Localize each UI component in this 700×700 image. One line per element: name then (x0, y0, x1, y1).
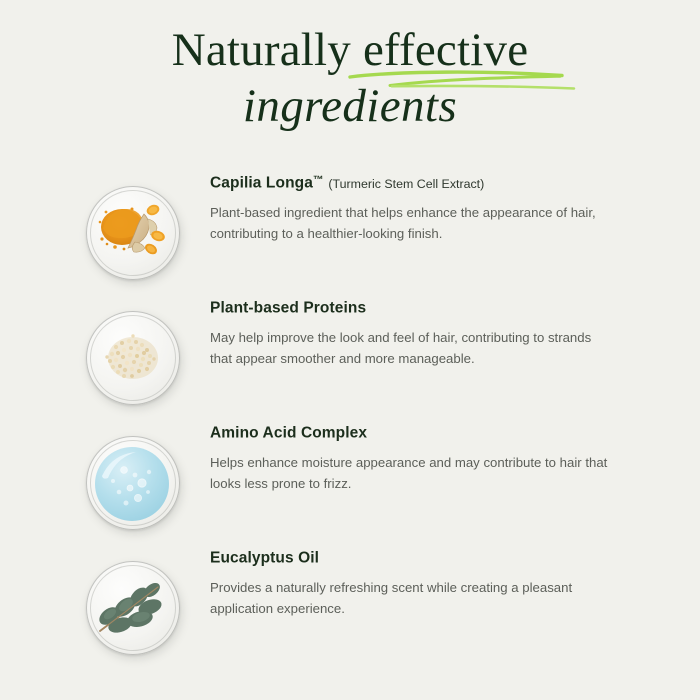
page-title-line-2: ingredients (0, 82, 700, 132)
list-item: Plant-based Proteins May help improve th… (0, 293, 700, 418)
petri-dish-eucalyptus-sprig-icon (86, 561, 180, 655)
ingredient-title-text: Plant-based Proteins (210, 300, 366, 317)
ingredient-description: Plant-based ingredient that helps enhanc… (210, 202, 610, 245)
ingredient-title: Capilia Longa™(Turmeric Stem Cell Extrac… (210, 174, 620, 193)
ingredient-title: Amino Acid Complex (210, 424, 620, 443)
ingredient-description: Helps enhance moisture appearance and ma… (210, 452, 610, 495)
page-title-line-1: Naturally effective (0, 26, 700, 76)
petri-dish-turmeric-powder-and-root-icon (86, 186, 180, 280)
list-item-text: Eucalyptus Oil Provides a naturally refr… (180, 543, 700, 619)
petri-dish-grain-seeds-icon (86, 311, 180, 405)
ingredient-description: May help improve the look and feel of ha… (210, 327, 610, 370)
ingredient-title-text: Amino Acid Complex (210, 425, 367, 442)
list-item-text: Amino Acid Complex Helps enhance moistur… (180, 418, 700, 494)
list-item: Capilia Longa™(Turmeric Stem Cell Extrac… (0, 168, 700, 293)
ingredients-panel: Naturally effective ingredients (0, 0, 700, 700)
list-item: Eucalyptus Oil Provides a naturally refr… (0, 543, 700, 668)
ingredient-title-text: Eucalyptus Oil (210, 550, 319, 567)
ingredient-subtitle: (Turmeric Stem Cell Extract) (328, 177, 484, 191)
ingredient-description: Provides a naturally refreshing scent wh… (210, 577, 610, 620)
petri-dish-blue-gel-icon (86, 436, 180, 530)
trademark-mark: ™ (313, 174, 324, 186)
list-item: Amino Acid Complex Helps enhance moistur… (0, 418, 700, 543)
ingredient-list: Capilia Longa™(Turmeric Stem Cell Extrac… (0, 168, 700, 668)
list-item-text: Plant-based Proteins May help improve th… (180, 293, 700, 369)
list-item-text: Capilia Longa™(Turmeric Stem Cell Extrac… (180, 168, 700, 244)
ingredient-title: Eucalyptus Oil (210, 549, 620, 568)
ingredient-title: Plant-based Proteins (210, 299, 620, 318)
page-title: Naturally effective ingredients (0, 26, 700, 132)
ingredient-title-text: Capilia Longa (210, 175, 313, 192)
